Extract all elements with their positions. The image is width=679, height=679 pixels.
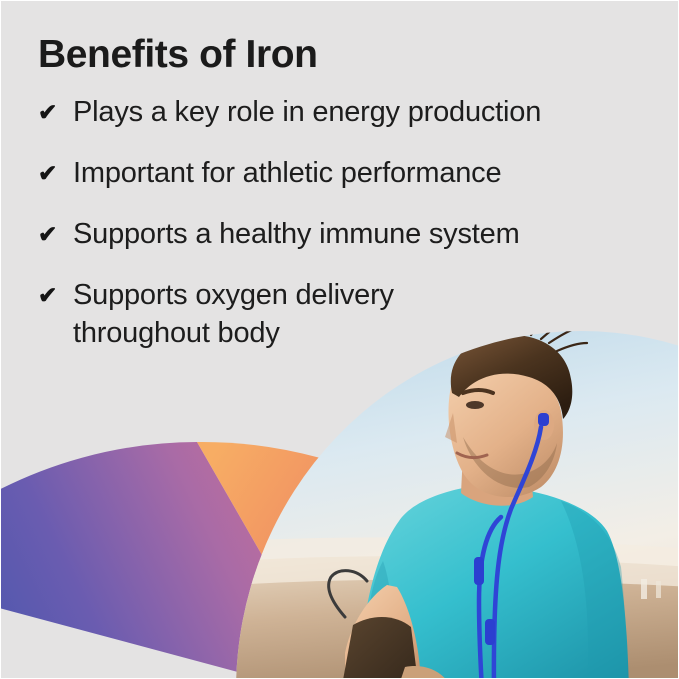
- check-icon: ✔: [38, 154, 68, 192]
- earbuds: [474, 413, 549, 678]
- check-icon: ✔: [38, 276, 68, 314]
- list-item: ✔ Supports oxygen delivery throughout bo…: [38, 276, 638, 352]
- benefit-text: Supports a healthy immune system: [73, 215, 520, 253]
- card-background: Benefits of Iron ✔ Plays a key role in e…: [1, 1, 678, 678]
- teal-shirt: [361, 488, 629, 678]
- list-item: ✔ Supports a healthy immune system: [38, 215, 638, 253]
- benefits-list: ✔ Plays a key role in energy production …: [38, 93, 638, 352]
- content-block: Benefits of Iron ✔ Plays a key role in e…: [38, 31, 638, 375]
- benefit-text: Supports oxygen delivery throughout body: [73, 276, 394, 352]
- armband: [341, 617, 419, 678]
- check-icon: ✔: [38, 93, 68, 131]
- fan-sector-purple: [1, 442, 346, 678]
- page-title: Benefits of Iron: [38, 31, 638, 79]
- list-item: ✔ Important for athletic performance: [38, 154, 638, 192]
- check-icon: ✔: [38, 215, 68, 253]
- benefit-text: Important for athletic performance: [73, 154, 501, 192]
- benefit-text: Plays a key role in energy production: [73, 93, 541, 131]
- beard: [463, 437, 557, 488]
- neck: [461, 453, 533, 506]
- list-item: ✔ Plays a key role in energy production: [38, 93, 638, 131]
- product-infographic-card: Benefits of Iron ✔ Plays a key role in e…: [0, 0, 679, 679]
- head: [448, 364, 562, 497]
- gradient-fan: [1, 442, 431, 678]
- left-arm: [345, 585, 421, 678]
- fan-sector-orange: [197, 442, 431, 678]
- eye: [466, 401, 484, 409]
